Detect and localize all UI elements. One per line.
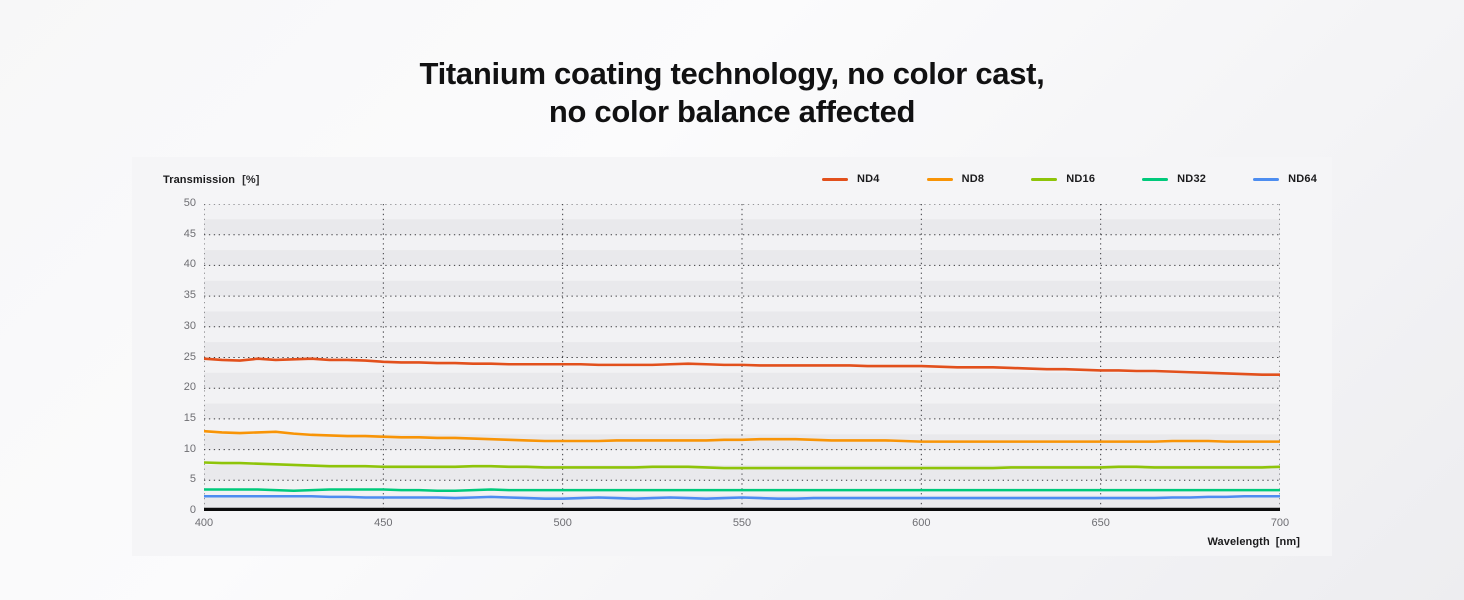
legend-label: ND64 [1288,173,1317,185]
legend-label: ND8 [962,173,985,185]
page-title-line-2: no color balance affected [0,93,1464,131]
y-tick-label: 50 [156,197,196,209]
legend-swatch-icon [1142,178,1168,181]
plot-svg [204,204,1280,511]
y-tick-label: 35 [156,289,196,301]
chart-legend: ND4ND8ND16ND32ND64 [822,173,1317,185]
plot-area: 0510152025303540455040045050055060065070… [204,204,1280,511]
series-line-nd32 [204,490,1280,491]
x-tick-label: 600 [899,517,943,529]
page-title-line-1: Titanium coating technology, no color ca… [0,55,1464,93]
y-tick-label: 10 [156,443,196,455]
y-tick-label: 5 [156,473,196,485]
legend-swatch-icon [927,178,953,181]
plot-band [204,219,1280,234]
chart-page: Titanium coating technology, no color ca… [0,0,1464,600]
legend-label: ND4 [857,173,880,185]
y-axis-unit: [%] [242,174,259,186]
x-tick-label: 550 [720,517,764,529]
y-tick-label: 20 [156,381,196,393]
plot-band [204,342,1280,357]
legend-swatch-icon [1253,178,1279,181]
y-tick-label: 30 [156,320,196,332]
legend-item-nd8[interactable]: ND8 [927,173,985,185]
x-axis-title-text: Wavelength [1207,536,1269,548]
x-tick-label: 700 [1258,517,1302,529]
y-axis-title-text: Transmission [163,174,235,186]
x-axis-title: Wavelength[nm] [1207,536,1300,548]
chart-panel: Transmission[%] ND4ND8ND16ND32ND64 05101… [132,157,1332,556]
legend-item-nd4[interactable]: ND4 [822,173,880,185]
legend-item-nd64[interactable]: ND64 [1253,173,1317,185]
y-tick-label: 0 [156,504,196,516]
x-tick-label: 500 [541,517,585,529]
plot-band [204,311,1280,326]
x-tick-label: 650 [1079,517,1123,529]
legend-label: ND32 [1177,173,1206,185]
legend-swatch-icon [1031,178,1057,181]
legend-label: ND16 [1066,173,1095,185]
legend-swatch-icon [822,178,848,181]
legend-item-nd16[interactable]: ND16 [1031,173,1095,185]
x-tick-label: 450 [361,517,405,529]
x-axis-unit: [nm] [1276,536,1300,548]
x-tick-label: 400 [182,517,226,529]
page-title: Titanium coating technology, no color ca… [0,55,1464,131]
y-axis-title: Transmission[%] [163,174,260,186]
y-tick-label: 25 [156,351,196,363]
y-tick-label: 45 [156,228,196,240]
legend-item-nd32[interactable]: ND32 [1142,173,1206,185]
y-tick-label: 15 [156,412,196,424]
y-tick-label: 40 [156,258,196,270]
